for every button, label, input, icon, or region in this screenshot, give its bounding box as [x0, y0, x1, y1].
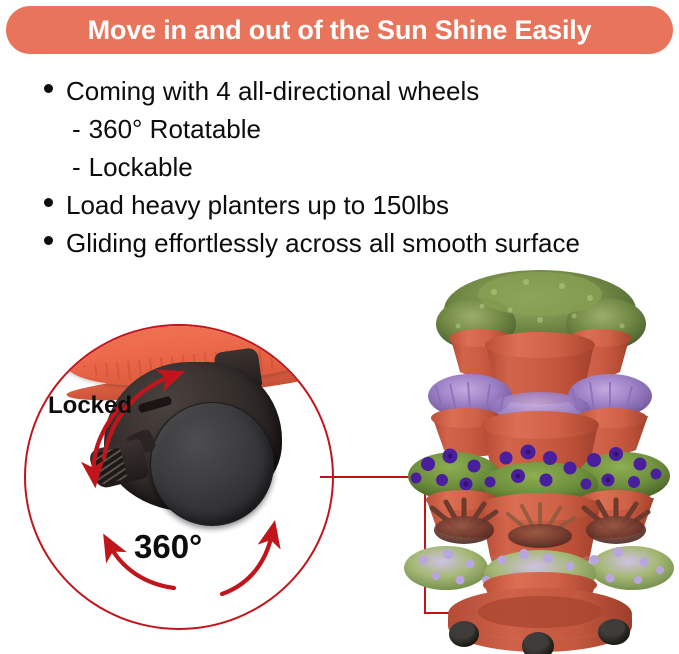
bullet-icon — [44, 236, 53, 245]
feature-item-1: - 360° Rotatable — [44, 110, 669, 148]
caster-wheel-assembly — [98, 358, 298, 548]
feature-item-2: - Lockable — [44, 148, 669, 186]
wheeled-caddy-base — [448, 588, 632, 654]
callout-content: Locked 360° — [26, 326, 332, 628]
brake-lever-ribs — [91, 447, 128, 485]
feature-item-0: Coming with 4 all-directional wheels — [44, 72, 669, 110]
dash-icon: - — [72, 148, 81, 186]
planter-tower-illustration — [398, 268, 679, 654]
header-banner: Move in and out of the Sun Shine Easily — [6, 6, 673, 54]
tier-dracaena — [432, 500, 648, 548]
locked-label: Locked — [48, 392, 132, 420]
feature-text: Load heavy planters up to 150lbs — [66, 186, 449, 224]
feature-text: Coming with 4 all-directional wheels — [66, 72, 479, 110]
feature-text: Lockable — [89, 148, 193, 186]
caster-housing-slot — [137, 395, 172, 413]
feature-item-3: Load heavy planters up to 150lbs — [44, 186, 669, 224]
bullet-icon — [44, 84, 53, 93]
caddy-caster-right — [598, 619, 630, 645]
feature-list: Coming with 4 all-directional wheels - 3… — [44, 72, 669, 262]
caddy-caster-left — [449, 621, 479, 647]
caster-wheel-face — [150, 402, 274, 526]
caster-zoom-callout: Locked 360° — [24, 324, 334, 630]
product-planter-tower — [398, 268, 679, 654]
feature-text: Gliding effortlessly across all smooth s… — [66, 224, 580, 262]
banner-title: Move in and out of the Sun Shine Easily — [88, 17, 592, 44]
infographic-page: Move in and out of the Sun Shine Easily … — [0, 0, 679, 654]
feature-text: 360° Rotatable — [89, 110, 261, 148]
rotation-label: 360° — [134, 528, 202, 566]
feature-item-4: Gliding effortlessly across all smooth s… — [44, 224, 669, 262]
dash-icon: - — [72, 110, 81, 148]
bullet-icon — [44, 198, 53, 207]
